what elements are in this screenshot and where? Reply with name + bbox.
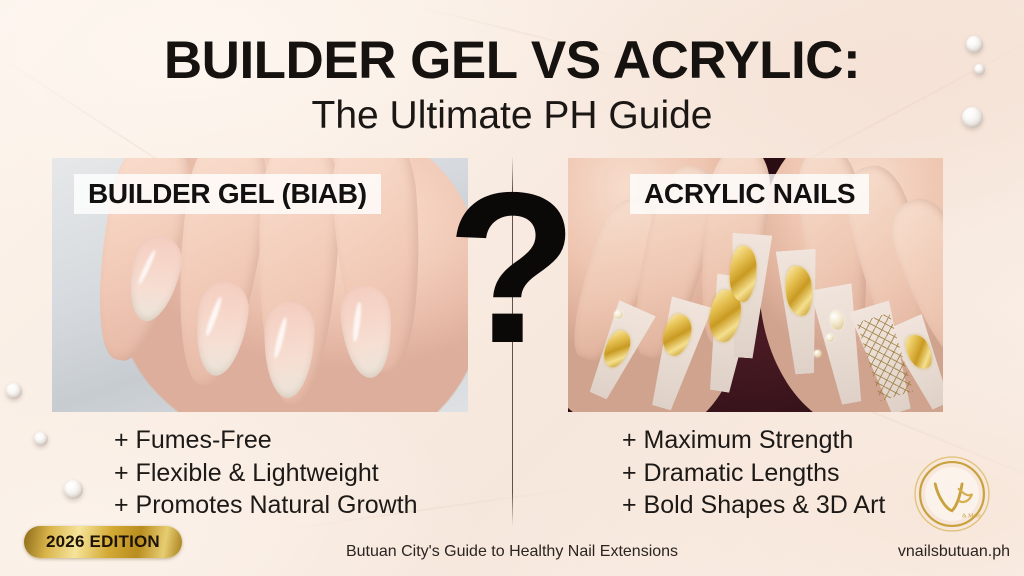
acrylic-label-band: ACRYLIC NAILS — [630, 174, 869, 214]
list-item: + Maximum Strength — [622, 424, 885, 457]
list-item: + Dramatic Lengths — [622, 457, 885, 490]
headline-block: BUILDER GEL VS ACRYLIC: The Ultimate PH … — [0, 34, 1024, 137]
rhinestone — [814, 350, 821, 357]
builder-gel-photo: BUILDER GEL (BIAB) — [52, 158, 468, 412]
builder-gel-benefits: + Fumes-Free + Flexible & Lightweight + … — [114, 424, 418, 522]
list-item: + Bold Shapes & 3D Art — [622, 489, 885, 522]
page-title: BUILDER GEL VS ACRYLIC: — [0, 34, 1024, 88]
rhinestone — [614, 310, 623, 319]
acrylic-benefits: + Maximum Strength + Dramatic Lengths + … — [622, 424, 885, 522]
footer-tagline: Butuan City's Guide to Healthy Nail Exte… — [0, 543, 1024, 561]
brand-logo: & More — [910, 452, 994, 536]
list-item: + Fumes-Free — [114, 424, 418, 457]
logo-subtext: & More — [962, 514, 981, 520]
rhinestone — [826, 334, 834, 342]
site-url[interactable]: vnailsbutuan.ph — [898, 543, 1010, 561]
list-item: + Flexible & Lightweight — [114, 457, 418, 490]
acrylic-nails-photo: ACRYLIC NAILS — [568, 158, 943, 412]
vertical-divider — [512, 156, 513, 526]
pearl-decoration — [6, 383, 22, 399]
pearl-decoration — [64, 480, 83, 499]
pearl-decoration — [34, 432, 48, 446]
builder-gel-label: BUILDER GEL (BIAB) — [88, 178, 367, 210]
page-subtitle: The Ultimate PH Guide — [0, 96, 1024, 137]
acrylic-label: ACRYLIC NAILS — [644, 178, 855, 210]
poster-canvas: BUILDER GEL VS ACRYLIC: The Ultimate PH … — [0, 0, 1024, 576]
list-item: + Promotes Natural Growth — [114, 489, 418, 522]
builder-gel-label-band: BUILDER GEL (BIAB) — [74, 174, 381, 214]
